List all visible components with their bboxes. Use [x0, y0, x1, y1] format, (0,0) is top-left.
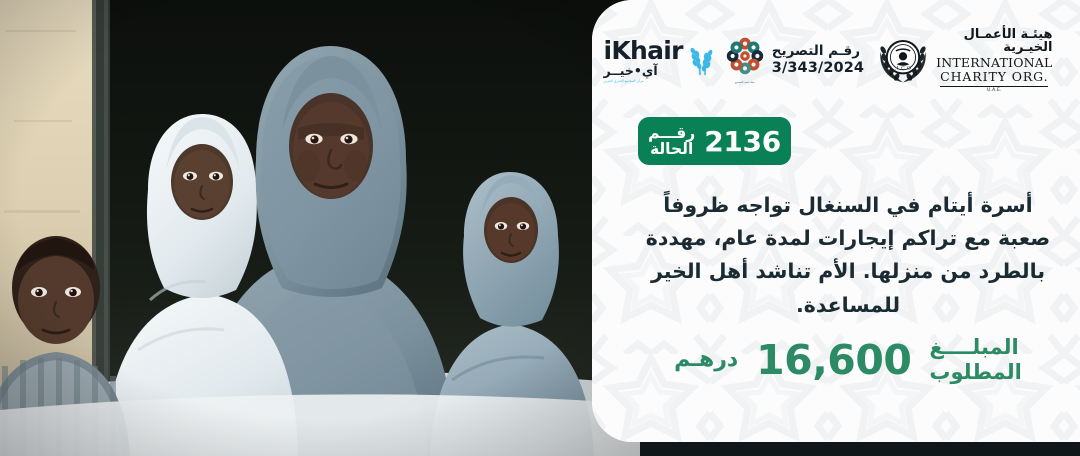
ikhair-logo: iKhair آي•خيــر مركز المجتمع الخيري العر…	[592, 38, 714, 83]
case-number-value: 2136	[704, 125, 781, 158]
case-label-line1: رقـــم	[648, 125, 695, 141]
wheat-icon	[688, 42, 714, 80]
ico-name-en-line1: INTERNATIONAL	[936, 57, 1052, 70]
required-amount-row: المبلــــغ المطلوب 16,600 درهـم	[638, 335, 1058, 385]
ikhair-subtitle: مركز المجتمع الخيري العربي	[603, 80, 643, 83]
case-label-line2: الحالة	[650, 141, 693, 157]
ico-divider	[940, 86, 1048, 87]
case-number-badge: رقـــم الحالة 2136	[638, 117, 791, 165]
permit-number: 3/343/2024	[772, 60, 864, 77]
case-info-card: iKhair آي•خيــر مركز المجتمع الخيري العر…	[592, 0, 1080, 442]
case-photo	[0, 0, 640, 456]
flower-circle-icon	[726, 37, 764, 79]
amount-label-line1: المبلــــغ	[929, 335, 1018, 360]
international-charity-org-logo: هيئـة الأعمـال الخيـرية INTERNATIONAL CH…	[876, 28, 1064, 93]
svg-text:I.C.O.: I.C.O.	[895, 65, 912, 71]
ico-name-ar: هيئـة الأعمـال الخيـرية	[936, 28, 1052, 54]
permit-logo: رقـم التصريح 3/343/2024	[714, 37, 876, 84]
partner-logo-row: iKhair آي•خيــر مركز المجتمع الخيري العر…	[592, 28, 1080, 93]
laurel-emblem-icon: I.C.O.	[876, 32, 930, 90]
case-description: أسرة أيتام في السنغال تواجه ظروفاً صعبة …	[638, 189, 1058, 322]
ico-name-en-line2: CHARITY ORG.	[940, 71, 1048, 84]
permit-mark-caption: هيئة تنمية المجتمع	[735, 81, 755, 84]
ico-country: U.A.E.	[987, 89, 1002, 94]
ikhair-name-ar: آي•خيــر	[603, 65, 657, 78]
amount-label-line2: المطلوب	[929, 360, 1021, 385]
amount-currency: درهـم	[674, 347, 738, 372]
amount-value: 16,600	[756, 336, 911, 384]
ikhair-name-en: iKhair	[603, 38, 682, 63]
donation-case-banner: iKhair آي•خيــر مركز المجتمع الخيري العر…	[0, 0, 1080, 456]
permit-label: رقـم التصريح	[772, 44, 860, 60]
